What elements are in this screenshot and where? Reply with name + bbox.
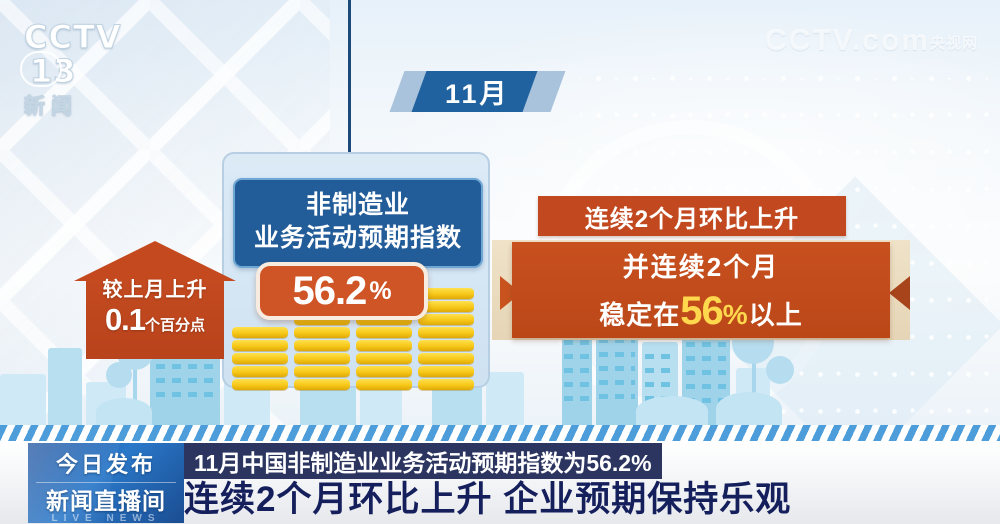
arrow-left-icon bbox=[889, 276, 910, 310]
month-banner: 11月 bbox=[397, 71, 558, 112]
right-panel-line2: 稳定在56%以上 bbox=[512, 288, 890, 338]
cctv-logo: CCTV13 新闻 bbox=[24, 20, 174, 86]
right-panel-highlight-pct: % bbox=[723, 299, 749, 330]
right-panel-line1: 并连续2个月 bbox=[512, 246, 890, 288]
cctv-channel-number: 13 bbox=[26, 54, 81, 88]
today-release-label: 今日发布 bbox=[28, 445, 184, 481]
cctv-logo-main: CCTV13 bbox=[24, 20, 174, 88]
lower-third-stripe-bar bbox=[0, 425, 1000, 441]
callout-unit: 个百分点 bbox=[145, 317, 205, 334]
watermark-text: CCTV.com bbox=[765, 24, 930, 57]
coin-stack bbox=[356, 314, 412, 392]
lower-third: 今日发布 新闻直播间 LIVE NEWS 11月中国非制造业业务活动预期指数为5… bbox=[0, 425, 1000, 524]
callout-text: 较上月上升 0.1个百分点 bbox=[74, 277, 236, 343]
right-panel-line2-suffix: 以上 bbox=[749, 300, 803, 330]
lower-third-subtitle: 11月中国非制造业业务活动预期指数为56.2% bbox=[184, 443, 662, 479]
index-value-badge: 56.2 % bbox=[256, 262, 428, 320]
broadcast-screen: CCTV13 新闻 CCTV.com央视网 11月 bbox=[0, 0, 1000, 524]
index-value-unit: % bbox=[369, 279, 391, 304]
index-value: 56.2 bbox=[292, 271, 366, 311]
tree-canopy bbox=[106, 362, 132, 388]
channel-name-label: 新闻直播间 bbox=[28, 484, 184, 514]
watermark-cn-text: 央视网 bbox=[930, 35, 978, 52]
index-card-title: 非制造业 业务活动预期指数 bbox=[233, 178, 483, 268]
lower-third-headline: 连续2个月环比上升 企业预期保持乐观 bbox=[184, 479, 791, 521]
tree-canopy bbox=[766, 356, 794, 384]
up-arrow-icon bbox=[74, 241, 236, 281]
month-banner-core: 11月 bbox=[412, 71, 543, 112]
live-news-label: LIVE NEWS bbox=[28, 513, 184, 523]
right-panel-top-label: 连续2个月环比上升 bbox=[538, 196, 846, 236]
callout-line1: 较上月上升 bbox=[74, 277, 236, 303]
bush bbox=[636, 396, 708, 426]
coin-stack bbox=[232, 327, 288, 392]
bush bbox=[716, 392, 782, 426]
index-card-title-line1: 非制造业 bbox=[241, 189, 475, 222]
month-change-callout: 较上月上升 0.1个百分点 bbox=[74, 241, 236, 359]
lower-third-logo-block: 今日发布 新闻直播间 LIVE NEWS bbox=[28, 443, 184, 523]
cctv-watermark: CCTV.com央视网 bbox=[765, 24, 978, 58]
callout-value: 0.1 bbox=[105, 302, 145, 337]
index-card-title-line2: 业务活动预期指数 bbox=[241, 222, 475, 255]
bush bbox=[96, 398, 152, 426]
right-panel-line2-prefix: 稳定在 bbox=[599, 300, 680, 330]
right-panel-highlight-value: 56 bbox=[680, 289, 723, 333]
callout-line2: 0.1个百分点 bbox=[74, 303, 236, 343]
cctv-logo-subtitle: 新闻 bbox=[24, 90, 174, 120]
month-banner-label: 11月 bbox=[445, 72, 510, 111]
right-panel-main: 并连续2个月 稳定在56%以上 bbox=[512, 242, 890, 338]
